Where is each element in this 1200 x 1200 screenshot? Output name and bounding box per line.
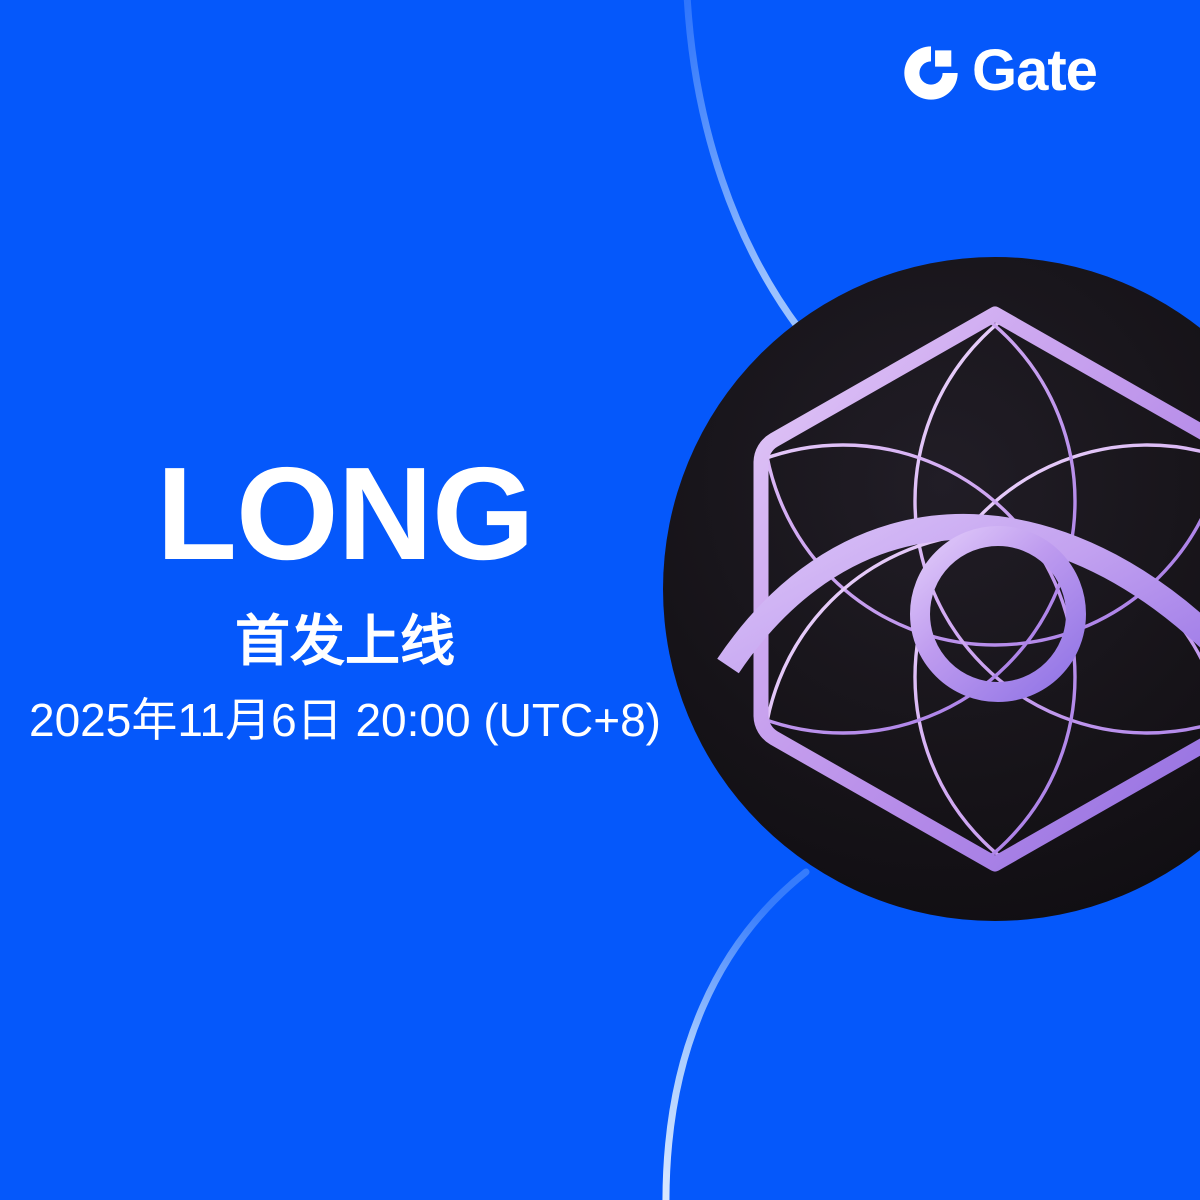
brand-logo[interactable]: Gate (902, 42, 1148, 104)
headline-text: 首发上线 (0, 614, 690, 669)
brand-name-text: Gate (972, 42, 1097, 103)
token-artwork-svg (640, 236, 1200, 946)
long-token-logo (640, 236, 1200, 946)
token-ticker: LONG (0, 448, 690, 580)
listing-datetime: 2025年11月6日 20:00 (UTC+8) (0, 697, 690, 743)
gate-wordmark: Gate (972, 42, 1148, 104)
announcement-text-block: LONG 首发上线 2025年11月6日 20:00 (UTC+8) (0, 448, 690, 743)
announcement-banner: Gate LONG 首发上线 2025年11月6日 20:00 (UTC+8) (0, 0, 1200, 1200)
gate-circle-mark-icon (902, 44, 960, 102)
